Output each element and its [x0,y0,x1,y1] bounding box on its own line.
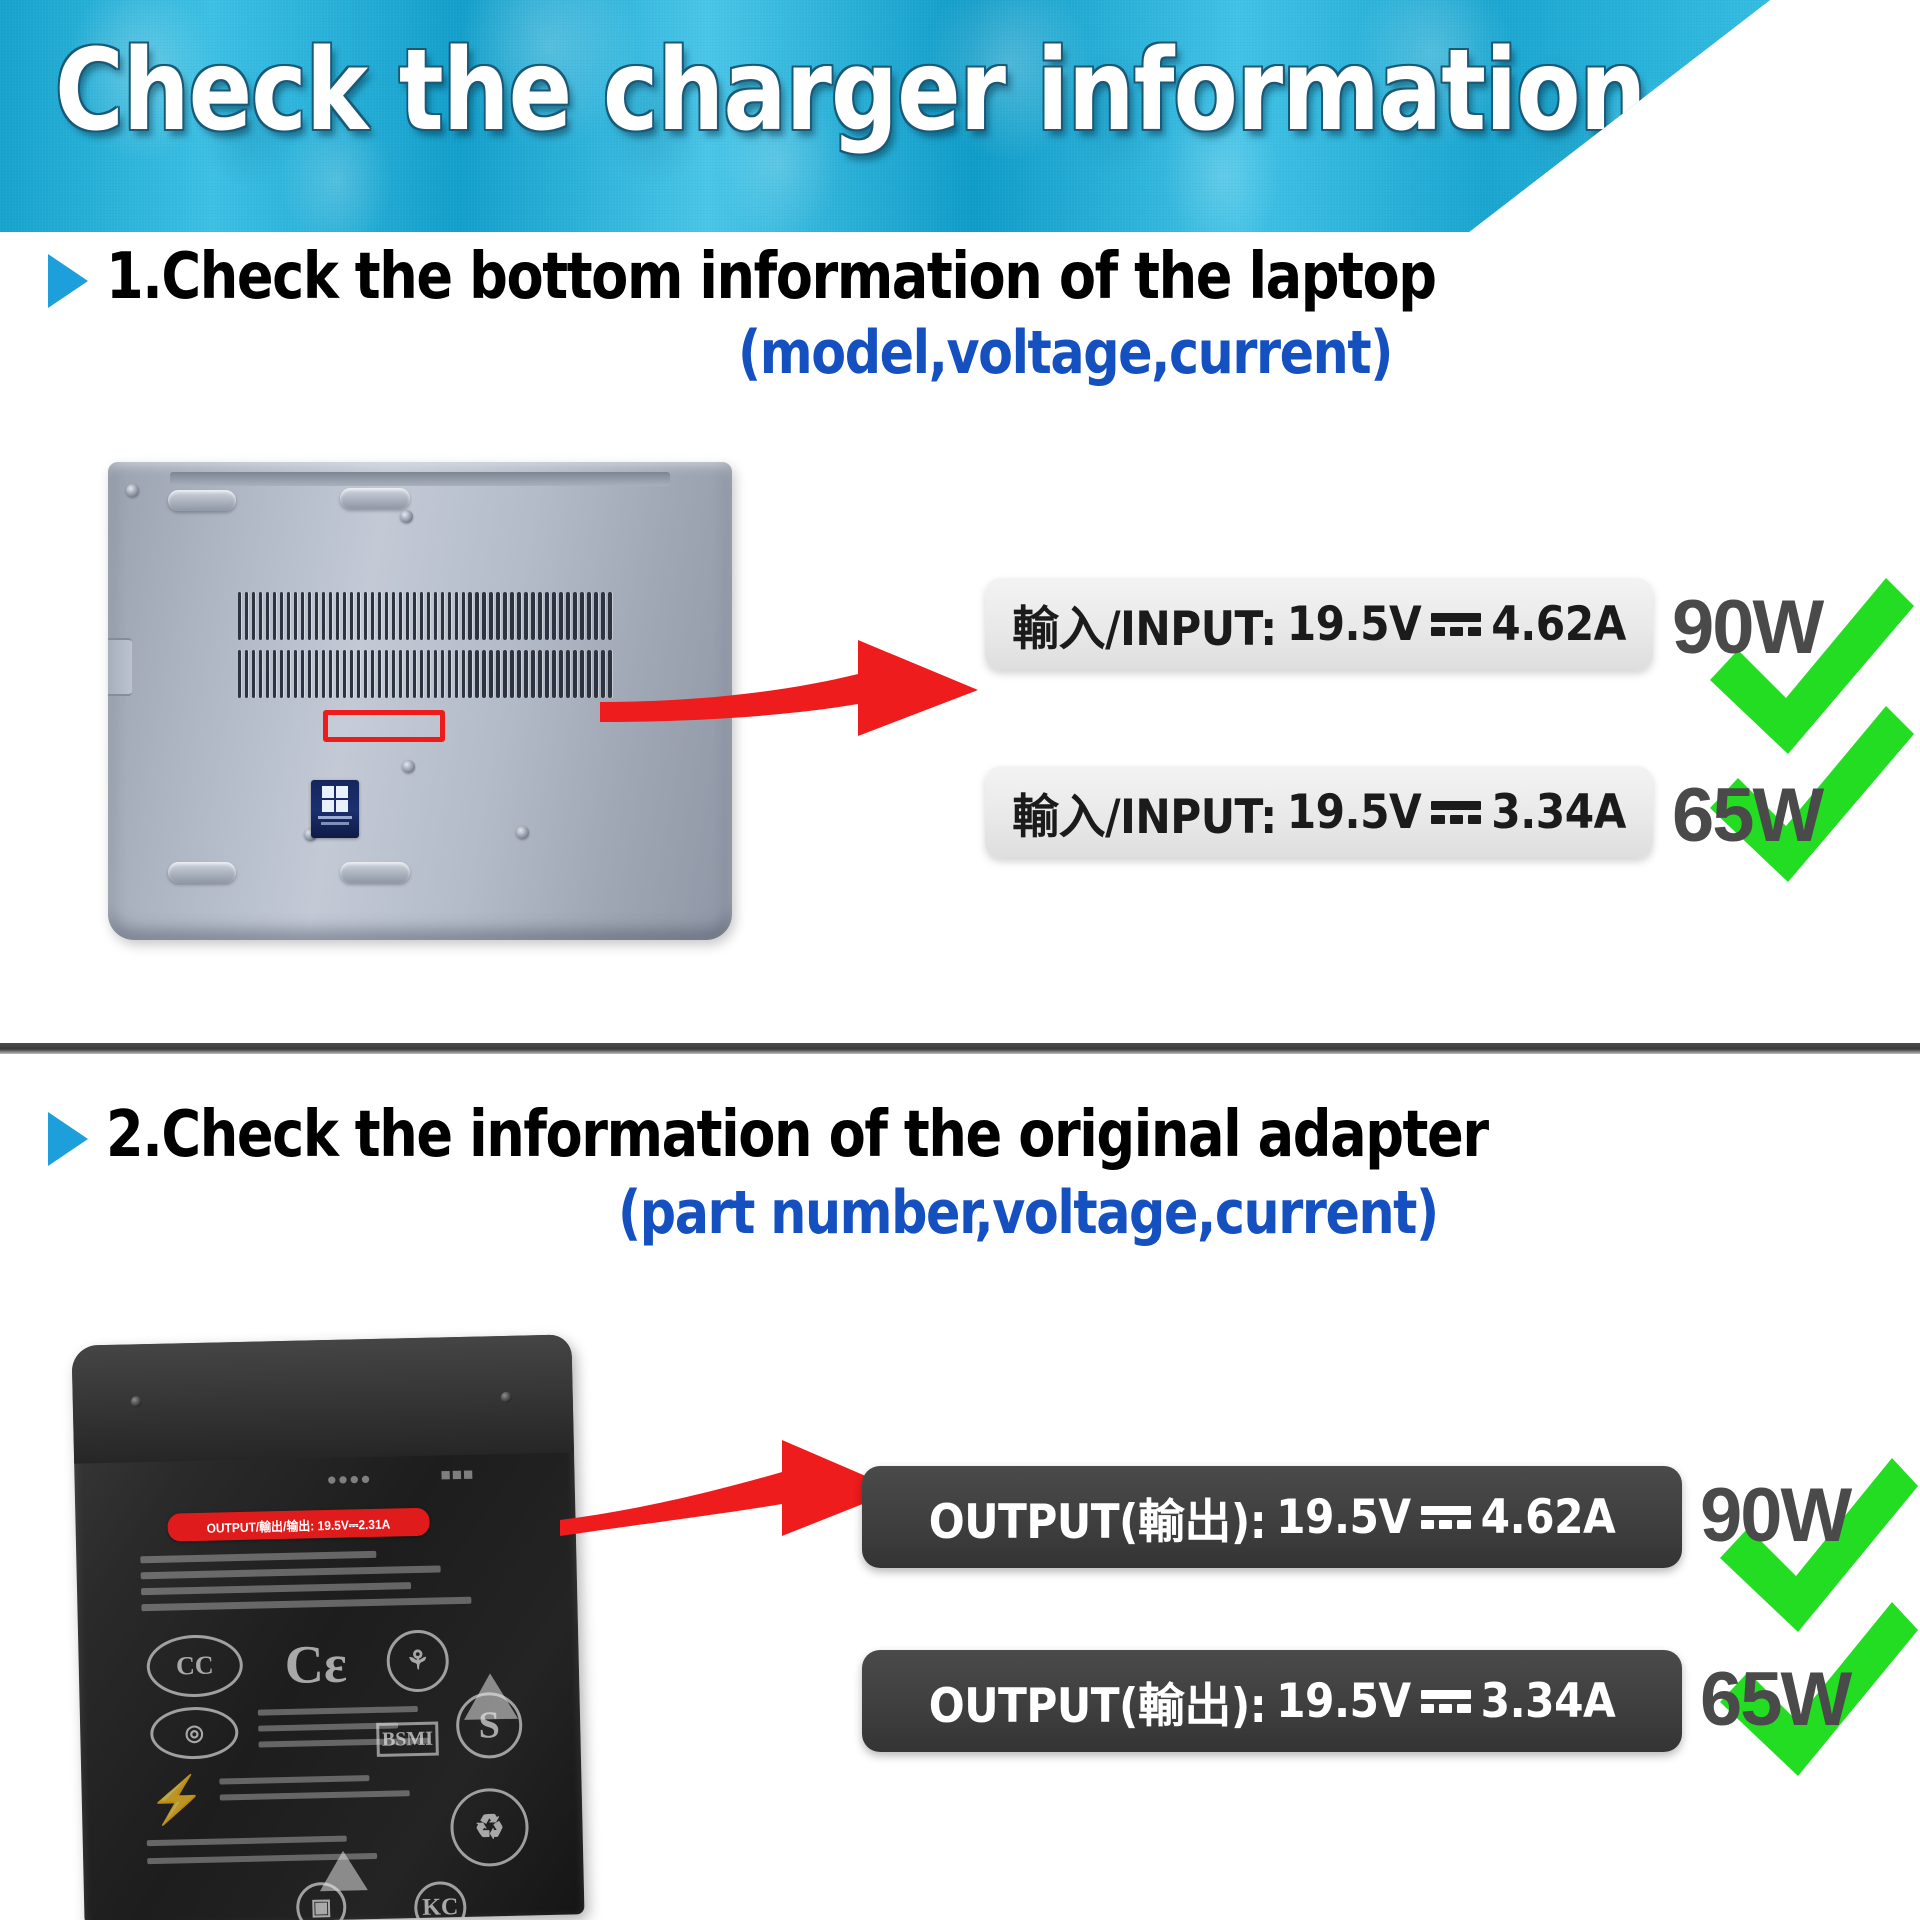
output-badge-90w: OUTPUT(輸出): 19.5V 4.62A [862,1466,1682,1568]
windows-logo-sticker [311,780,359,838]
output-current: 3.34A [1481,1674,1616,1729]
adapter-spec-line [140,1551,376,1563]
windows-logo-icon [322,786,348,812]
dc-current-icon [1431,613,1481,636]
red-pointer-arrow [560,1432,900,1552]
triangle-right-icon [48,254,88,308]
laptop-foot [340,862,410,883]
dc-current-icon [1431,801,1481,824]
input-badge-65w: 輸入/INPUT: 19.5V 3.34A [985,766,1653,858]
input-voltage: 19.5V [1287,785,1422,840]
page-title: Check the charger information [55,26,1646,156]
laptop-hinge-seam [170,472,670,486]
input-badge-90w: 輸入/INPUT: 19.5V 4.62A [985,578,1653,670]
red-rectangle-highlight: OUTPUT/輸出/输出: 19.5V⎓2.31A [167,1508,430,1542]
output-badge-90w-text: OUTPUT(輸出): 19.5V 4.62A [929,1483,1615,1552]
dc-current-icon [1421,1690,1471,1713]
sticker-text-line [318,816,352,819]
watt-label-65w: 65W [1672,772,1822,859]
laptop-foot [168,490,236,511]
input-current: 4.62A [1491,597,1626,652]
ce-cert-icon: Cε [256,1635,375,1694]
vcci-cert-icon: ◎ [150,1706,239,1760]
input-label: 輸入/INPUT: [1012,778,1277,847]
input-badge-90w-text: 輸入/INPUT: 19.5V 4.62A [1012,590,1626,659]
adapter-spec-line [141,1582,411,1595]
kc-cert-icon: KC [414,1881,467,1920]
adapter-spec-line [147,1836,347,1847]
adapter-spec-line [219,1775,369,1784]
triangle-right-icon [48,1112,88,1166]
dc-current-icon [1421,1506,1471,1529]
adapter-top-band [71,1334,574,1463]
s-mark-cert-icon: S [455,1692,522,1759]
output-current: 4.62A [1481,1490,1616,1545]
laptop-screw [402,760,415,773]
section-1-heading: 1.Check the bottom information of the la… [48,240,1521,314]
recycle-cert-icon: ♻ [450,1788,530,1868]
output-badge-65w-text: OUTPUT(輸出): 19.5V 3.34A [929,1667,1615,1736]
adapter-output-label: OUTPUT/輸出/输出: 19.5V⎓2.31A [207,1513,391,1536]
input-current: 3.34A [1491,785,1626,840]
section-divider [0,1043,1920,1054]
output-label: OUTPUT(輸出): [929,1667,1266,1736]
section-2-subtitle: (part number,voltage,current) [618,1178,1438,1248]
input-voltage: 19.5V [1287,597,1422,652]
output-badge-65w: OUTPUT(輸出): 19.5V 3.34A [862,1650,1682,1752]
section-1-heading-text: 1.Check the bottom information of the la… [106,240,1436,314]
ac-adapter-photo: ●●●● ■■■ OUTPUT/輸出/输出: 19.5V⎓2.31A CC Cε… [78,1340,578,1920]
section-1-subtitle: (model,voltage,current) [738,318,1392,388]
watt-label-90w: 90W [1672,584,1822,671]
section-2-heading: 2.Check the information of the original … [48,1098,1576,1172]
red-rectangle-highlight [323,710,445,742]
header-banner: Check the charger information [0,0,1770,232]
infographic-page: Check the charger information 1.Check th… [0,0,1920,1920]
psb-cert-icon: ⚘ [386,1629,449,1692]
laptop-foot [168,862,236,883]
laptop-screw [126,484,139,497]
adapter-spec-line [220,1790,410,1800]
input-label: 輸入/INPUT: [1012,590,1277,659]
laptop-screw [400,510,413,523]
adapter-body: ●●●● ■■■ OUTPUT/輸出/输出: 19.5V⎓2.31A CC Cε… [71,1334,584,1920]
adapter-spec-line [141,1597,471,1611]
adapter-spec-line [141,1565,441,1579]
adapter-spec-line [258,1706,418,1716]
output-voltage: 19.5V [1276,1490,1411,1545]
laptop-screw [516,826,529,839]
adapter-brand-mark: ●●●● [326,1469,372,1490]
rcm-cert-icon [318,1823,368,1891]
laptop-foot [340,488,410,509]
output-label: OUTPUT(輸出): [929,1483,1266,1552]
red-pointer-arrow [600,630,980,750]
section-2-heading-text: 2.Check the information of the original … [106,1098,1488,1172]
bsmi-cert-icon: BSMI [376,1722,439,1757]
sticker-text-line [321,822,349,825]
laptop-vent-row [238,650,618,698]
lightning-cert-icon: ⚡ [147,1771,206,1830]
output-voltage: 19.5V [1276,1674,1411,1729]
adapter-model-mark: ■■■ [440,1465,474,1486]
ccc-cert-icon: CC [146,1634,243,1698]
laptop-side-port [108,638,132,696]
watt-label-65w: 65W [1700,1656,1850,1743]
watt-label-90w: 90W [1700,1472,1850,1559]
laptop-vent-row [238,592,618,640]
input-badge-65w-text: 輸入/INPUT: 19.5V 3.34A [1012,778,1626,847]
